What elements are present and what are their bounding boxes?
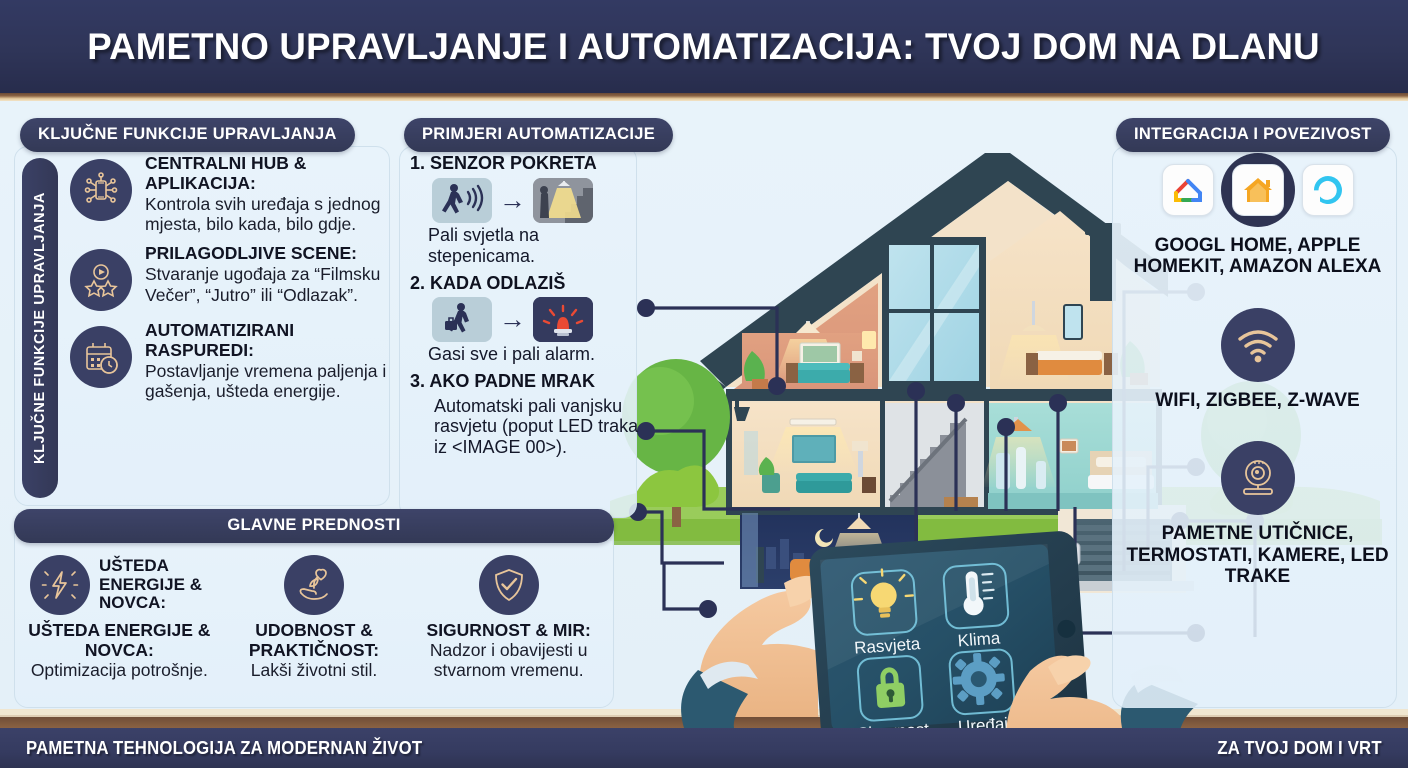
list-item: 2. KADA ODLAZIŠ → — [410, 273, 642, 366]
automation-title: PRIMJERI AUTOMATIZACIJE — [404, 118, 673, 152]
header-divider — [0, 93, 1408, 101]
automation-flow: → — [410, 297, 642, 342]
list-item: PAMETNE UTIČNICE, TERMOSTATI, KAMERE, LE… — [1120, 441, 1395, 587]
feature-body: Postavljanje vremena paljenja i gašenja,… — [145, 361, 388, 402]
benefit-text: SIGURNOST & MIR: Nadzor i obavijesti u s… — [411, 621, 606, 681]
footer-right-text: ZA TVOJ DOM I VRT — [1218, 738, 1382, 759]
automation-heading: 2. KADA ODLAZIŠ — [410, 273, 642, 295]
brand-logo-row — [1162, 153, 1354, 227]
wifi-icon — [1221, 308, 1295, 382]
key-functions-pill-wrap: KLJUČNE FUNKCIJE UPRAVLJANJA — [20, 118, 355, 152]
feature-heading: CENTRALNI HUB & APLIKACIJA: — [145, 154, 388, 194]
motion-sensor-icon — [432, 178, 492, 223]
integration-pill-wrap: INTEGRACIJA I POVEZIVOST — [1116, 118, 1390, 152]
list-item-text: AUTOMATIZIRANI RASPUREDI: Postavljanje v… — [145, 320, 388, 401]
list-item: SIGURNOST & MIR: Nadzor i obavijesti u s… — [411, 549, 606, 709]
benefit-text: UŠTEDA ENERGIJE & NOVCA: Optimizacija po… — [22, 621, 217, 681]
integration-label: WIFI, ZIGBEE, Z-WAVE — [1155, 390, 1359, 411]
stairs-light-icon — [533, 178, 593, 223]
integration-label: PAMETNE UTIČNICE, TERMOSTATI, KAMERE, LE… — [1120, 523, 1395, 587]
automation-pill-wrap: PRIMJERI AUTOMATIZACIJE — [404, 118, 673, 152]
amazon-alexa-icon — [1302, 164, 1354, 216]
automation-flow: → — [410, 178, 642, 223]
benefit-text: UDOBNOST & PRAKTIČNOST: Lakši životni st… — [217, 621, 412, 681]
feature-heading: PRILAGODLJIVE SCENE: — [145, 244, 388, 264]
page-title: PAMETNO UPRAVLJANJE I AUTOMATIZACIJA: TV… — [88, 26, 1321, 68]
feature-heading: AUTOMATIZIRANI RASPUREDI: — [145, 321, 388, 361]
energy-bolt-icon — [30, 555, 90, 615]
benefit-icon-row — [217, 549, 412, 621]
footer-left-text: PAMETNA TEHNOLOGIJA ZA MODERNAN ŽIVOT — [26, 738, 422, 759]
integration-list: GOOGL HOME, APPLE HOMEKIT, AMAZON ALEXA … — [1120, 153, 1395, 588]
list-item: 1. SENZOR POKRETA → — [410, 153, 642, 267]
arrow-right-icon: → — [499, 306, 526, 333]
benefit-inline-heading: UŠTEDA ENERGIJE & NOVCA: — [99, 557, 217, 613]
automation-list: 1. SENZOR POKRETA → — [410, 153, 642, 463]
list-item: PRILAGODLJIVE SCENE: Stvaranje ugođaja z… — [70, 243, 388, 311]
key-functions-list: CENTRALNI HUB & APLIKACIJA: Kontrola svi… — [70, 153, 388, 411]
automation-body: Automatski pali vanjsku rasvjetu (poput … — [410, 396, 642, 458]
arrow-right-icon: → — [499, 187, 526, 214]
key-functions-vertical-label-text: KLJUČNE FUNKCIJE UPRAVLJANJA — [32, 192, 48, 464]
benefit-icon-row — [411, 549, 606, 621]
feature-body: Stvaranje ugođaja za “Filmsku Večer”, “J… — [145, 264, 388, 305]
person-leaving-icon — [432, 297, 492, 342]
page-header: PAMETNO UPRAVLJANJE I AUTOMATIZACIJA: TV… — [0, 0, 1408, 93]
list-item: CENTRALNI HUB & APLIKACIJA: Kontrola svi… — [70, 153, 388, 234]
infographic-canvas: Rasvjeta Klima Sigurnost Uređaji KLJUČNE… — [0, 101, 1408, 728]
svg-text:Klima: Klima — [957, 628, 1001, 650]
benefits-pill-wrap: GLAVNE PREDNOSTI — [14, 509, 614, 543]
feature-body: Kontrola svih uređaja s jednog mjesta, b… — [145, 194, 388, 235]
benefit-heading: UDOBNOST & PRAKTIČNOST: — [221, 621, 408, 661]
smartphone-hub-icon — [70, 159, 132, 221]
list-item: UDOBNOST & PRAKTIČNOST: Lakši životni st… — [217, 549, 412, 709]
integration-title: INTEGRACIJA I POVEZIVOST — [1116, 118, 1390, 152]
key-functions-title: KLJUČNE FUNKCIJE UPRAVLJANJA — [20, 118, 355, 152]
shield-check-icon — [479, 555, 539, 615]
benefits-list: UŠTEDA ENERGIJE & NOVCA: UŠTEDA ENERGIJE… — [14, 549, 614, 709]
automation-caption: Gasi sve i pali alarm. — [410, 344, 642, 365]
list-item: WIFI, ZIGBEE, Z-WAVE — [1120, 308, 1395, 411]
benefit-body: Nadzor i obavijesti u stvarnom vremenu. — [415, 641, 602, 681]
google-home-icon — [1162, 164, 1214, 216]
list-item: UŠTEDA ENERGIJE & NOVCA: UŠTEDA ENERGIJE… — [22, 549, 217, 709]
benefit-icon-row: UŠTEDA ENERGIJE & NOVCA: — [22, 549, 217, 621]
benefit-heading: UŠTEDA ENERGIJE & NOVCA: — [26, 621, 213, 661]
list-item: AUTOMATIZIRANI RASPUREDI: Postavljanje v… — [70, 320, 388, 401]
apple-homekit-ring — [1221, 153, 1295, 227]
integration-label: GOOGL HOME, APPLE HOMEKIT, AMAZON ALEXA — [1120, 235, 1395, 278]
automation-heading: 3. AKO PADNE MRAK — [410, 371, 642, 393]
list-item: GOOGL HOME, APPLE HOMEKIT, AMAZON ALEXA — [1120, 153, 1395, 278]
play-stars-icon — [70, 249, 132, 311]
benefit-body: Optimizacija potrošnje. — [26, 661, 213, 681]
automation-heading: 1. SENZOR POKRETA — [410, 153, 642, 175]
list-item-text: PRILAGODLJIVE SCENE: Stvaranje ugođaja z… — [145, 243, 388, 311]
list-item-text: CENTRALNI HUB & APLIKACIJA: Kontrola svi… — [145, 153, 388, 234]
automation-caption: Pali svjetla na stepenicama. — [410, 225, 642, 267]
key-functions-vertical-label: KLJUČNE FUNKCIJE UPRAVLJANJA — [22, 158, 58, 498]
benefits-title: GLAVNE PREDNOSTI — [14, 509, 614, 543]
benefit-body: Lakši životni stil. — [221, 661, 408, 681]
apple-homekit-icon — [1232, 164, 1284, 216]
calendar-clock-icon — [70, 326, 132, 388]
security-camera-icon — [1221, 441, 1295, 515]
list-item: 3. AKO PADNE MRAK Automatski pali vanjsk… — [410, 371, 642, 457]
alarm-siren-icon — [533, 297, 593, 342]
benefit-heading: SIGURNOST & MIR: — [415, 621, 602, 641]
page-footer: PAMETNA TEHNOLOGIJA ZA MODERNAN ŽIVOT ZA… — [0, 728, 1408, 768]
hand-plant-heart-icon — [284, 555, 344, 615]
